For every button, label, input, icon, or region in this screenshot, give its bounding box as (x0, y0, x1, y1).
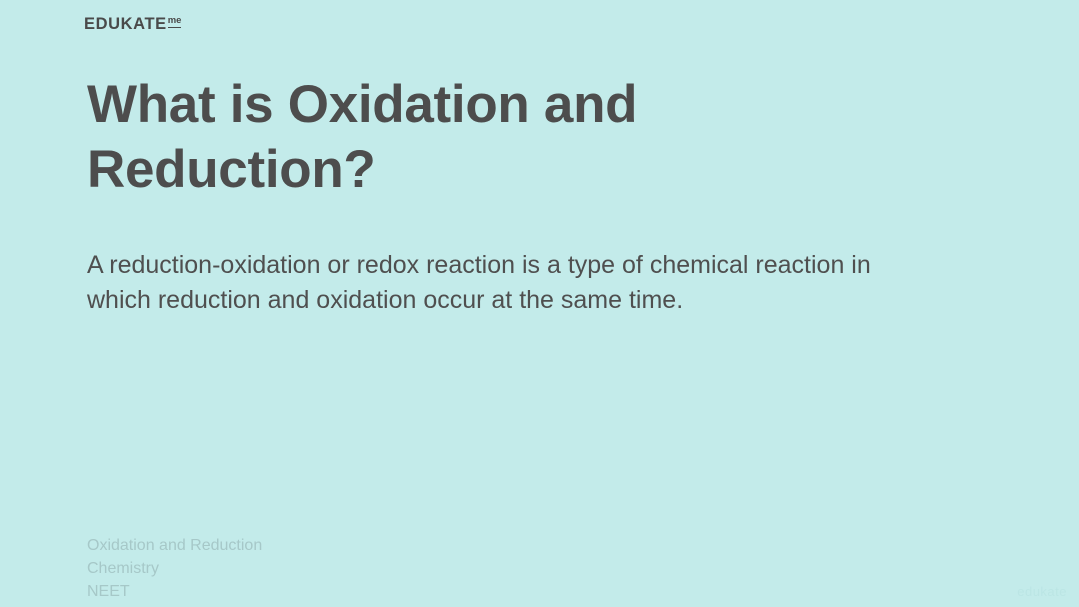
page-title-line-1: What is Oxidation and (87, 72, 787, 137)
page-title: What is Oxidation and Reduction? (87, 72, 787, 202)
footer-topic: Oxidation and Reduction (87, 534, 262, 557)
page-title-line-2: Reduction? (87, 137, 787, 202)
brand-logo[interactable]: EDUKATE me (84, 16, 181, 33)
brand-suffix: me (168, 16, 182, 28)
slide-body-line-1: A reduction-oxidation or redox reaction … (87, 248, 997, 283)
slide-body-text: A reduction-oxidation or redox reaction … (87, 248, 997, 318)
footer-exam: NEET (87, 580, 262, 603)
brand-name: EDUKATE (84, 16, 167, 33)
corner-watermark: edukate (1017, 584, 1067, 599)
slide-footer-meta: Oxidation and Reduction Chemistry NEET (87, 534, 262, 603)
slide-body-line-2: which reduction and oxidation occur at t… (87, 283, 997, 318)
footer-subject: Chemistry (87, 557, 262, 580)
slide-canvas: EDUKATE me What is Oxidation and Reducti… (0, 0, 1079, 607)
